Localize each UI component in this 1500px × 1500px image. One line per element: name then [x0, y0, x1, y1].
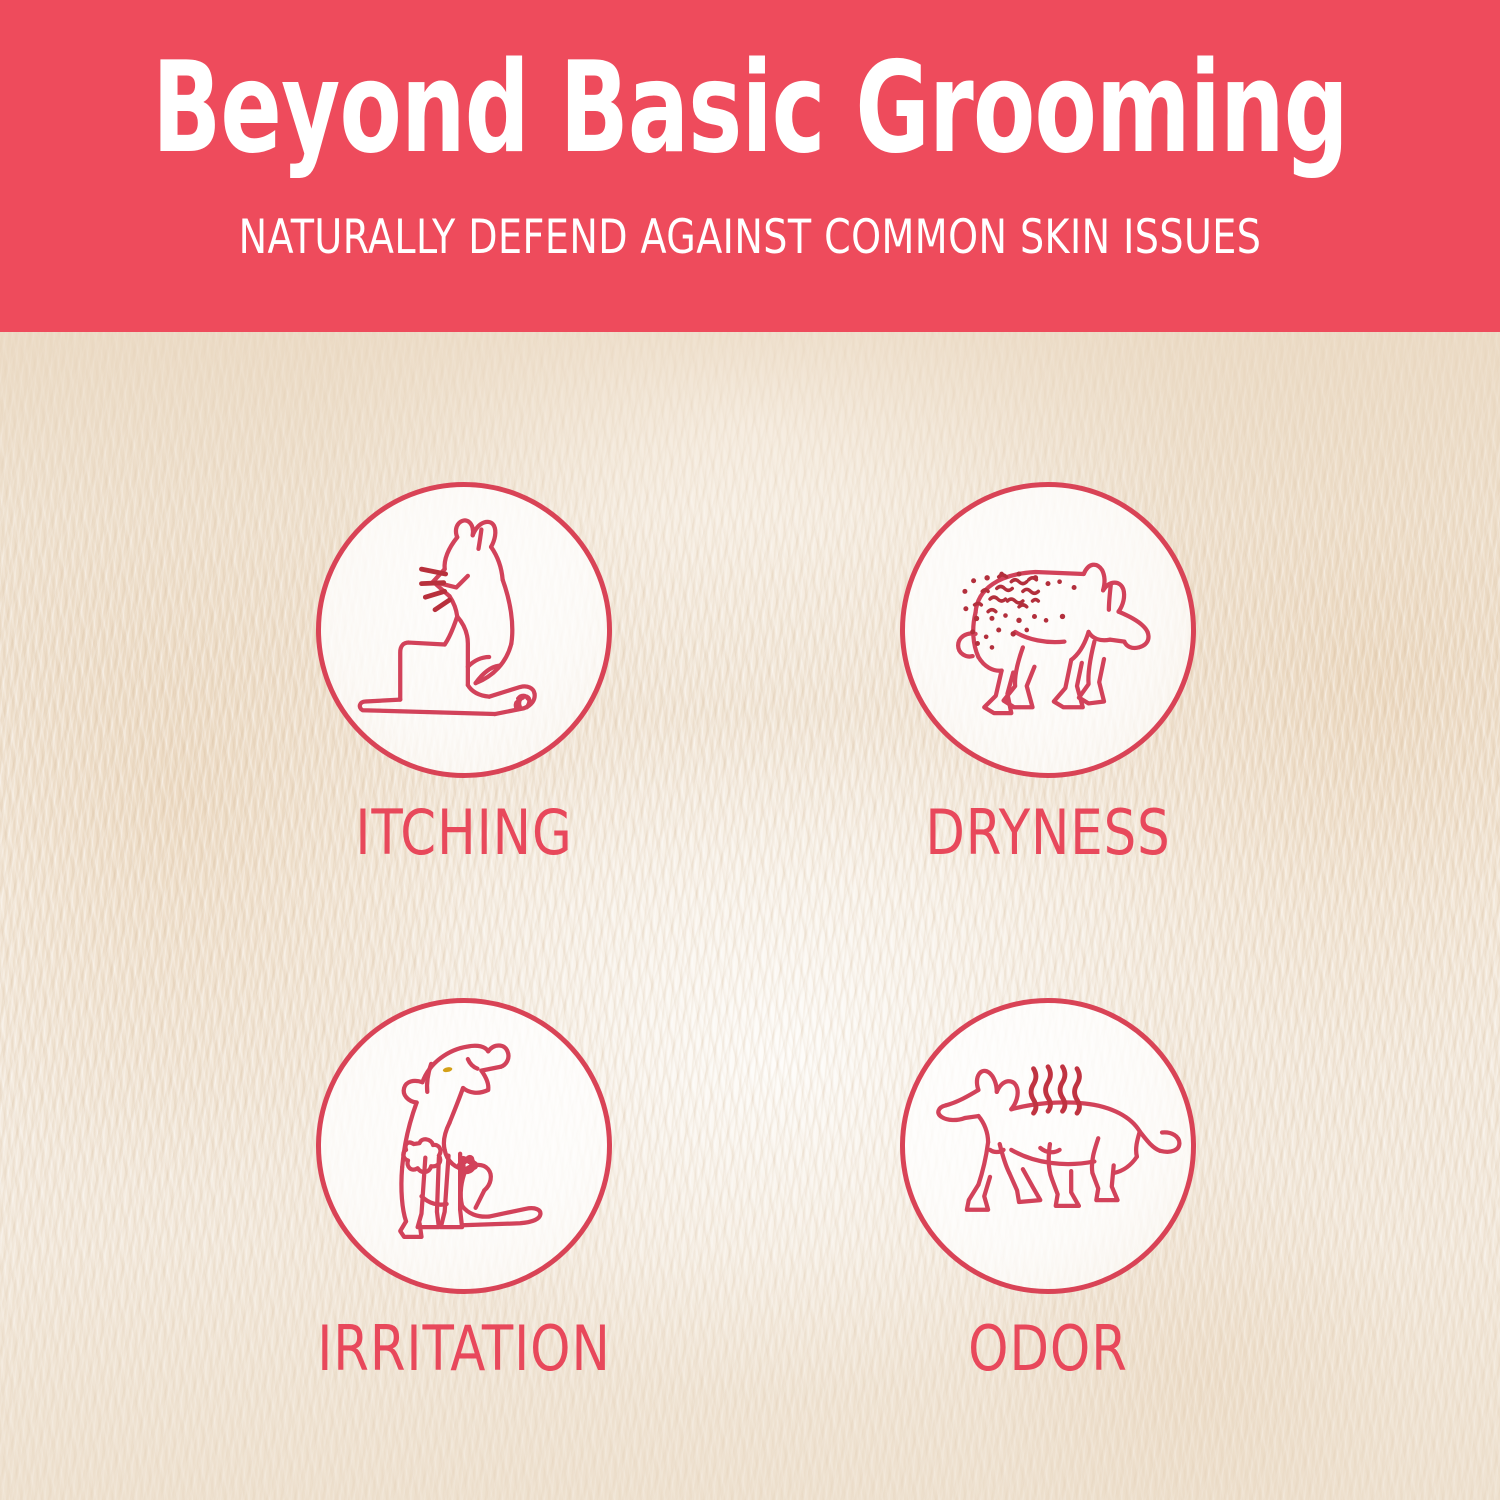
- feature-item-odor: ODOR: [848, 998, 1248, 1384]
- feature-item-itching: ITCHING: [264, 482, 664, 868]
- page-title: Beyond Basic Grooming: [150, 42, 1350, 174]
- feature-badge-circle: [900, 482, 1196, 778]
- header-banner: Beyond Basic Grooming NATURALLY DEFEND A…: [0, 0, 1500, 332]
- dog-irritated-patch-icon: [321, 1003, 607, 1289]
- feature-label-dryness: DRYNESS: [864, 798, 1232, 868]
- feature-label-odor: ODOR: [864, 1314, 1232, 1384]
- marketing-infographic: Beyond Basic Grooming NATURALLY DEFEND A…: [0, 0, 1500, 1500]
- feature-grid: ITCHING: [0, 332, 1500, 1500]
- feature-badge-circle: [900, 998, 1196, 1294]
- feature-label-itching: ITCHING: [280, 798, 648, 868]
- dog-scratching-icon: [321, 487, 607, 773]
- dog-smell-lines-icon: [905, 1003, 1191, 1289]
- dog-flaky-skin-icon: [905, 487, 1191, 773]
- page-subtitle: NATURALLY DEFEND AGAINST COMMON SKIN ISS…: [75, 210, 1425, 266]
- feature-label-irritation: IRRITATION: [280, 1314, 648, 1384]
- feature-badge-circle: [316, 482, 612, 778]
- feature-badge-circle: [316, 998, 612, 1294]
- feature-item-irritation: IRRITATION: [264, 998, 664, 1384]
- feature-item-dryness: DRYNESS: [848, 482, 1248, 868]
